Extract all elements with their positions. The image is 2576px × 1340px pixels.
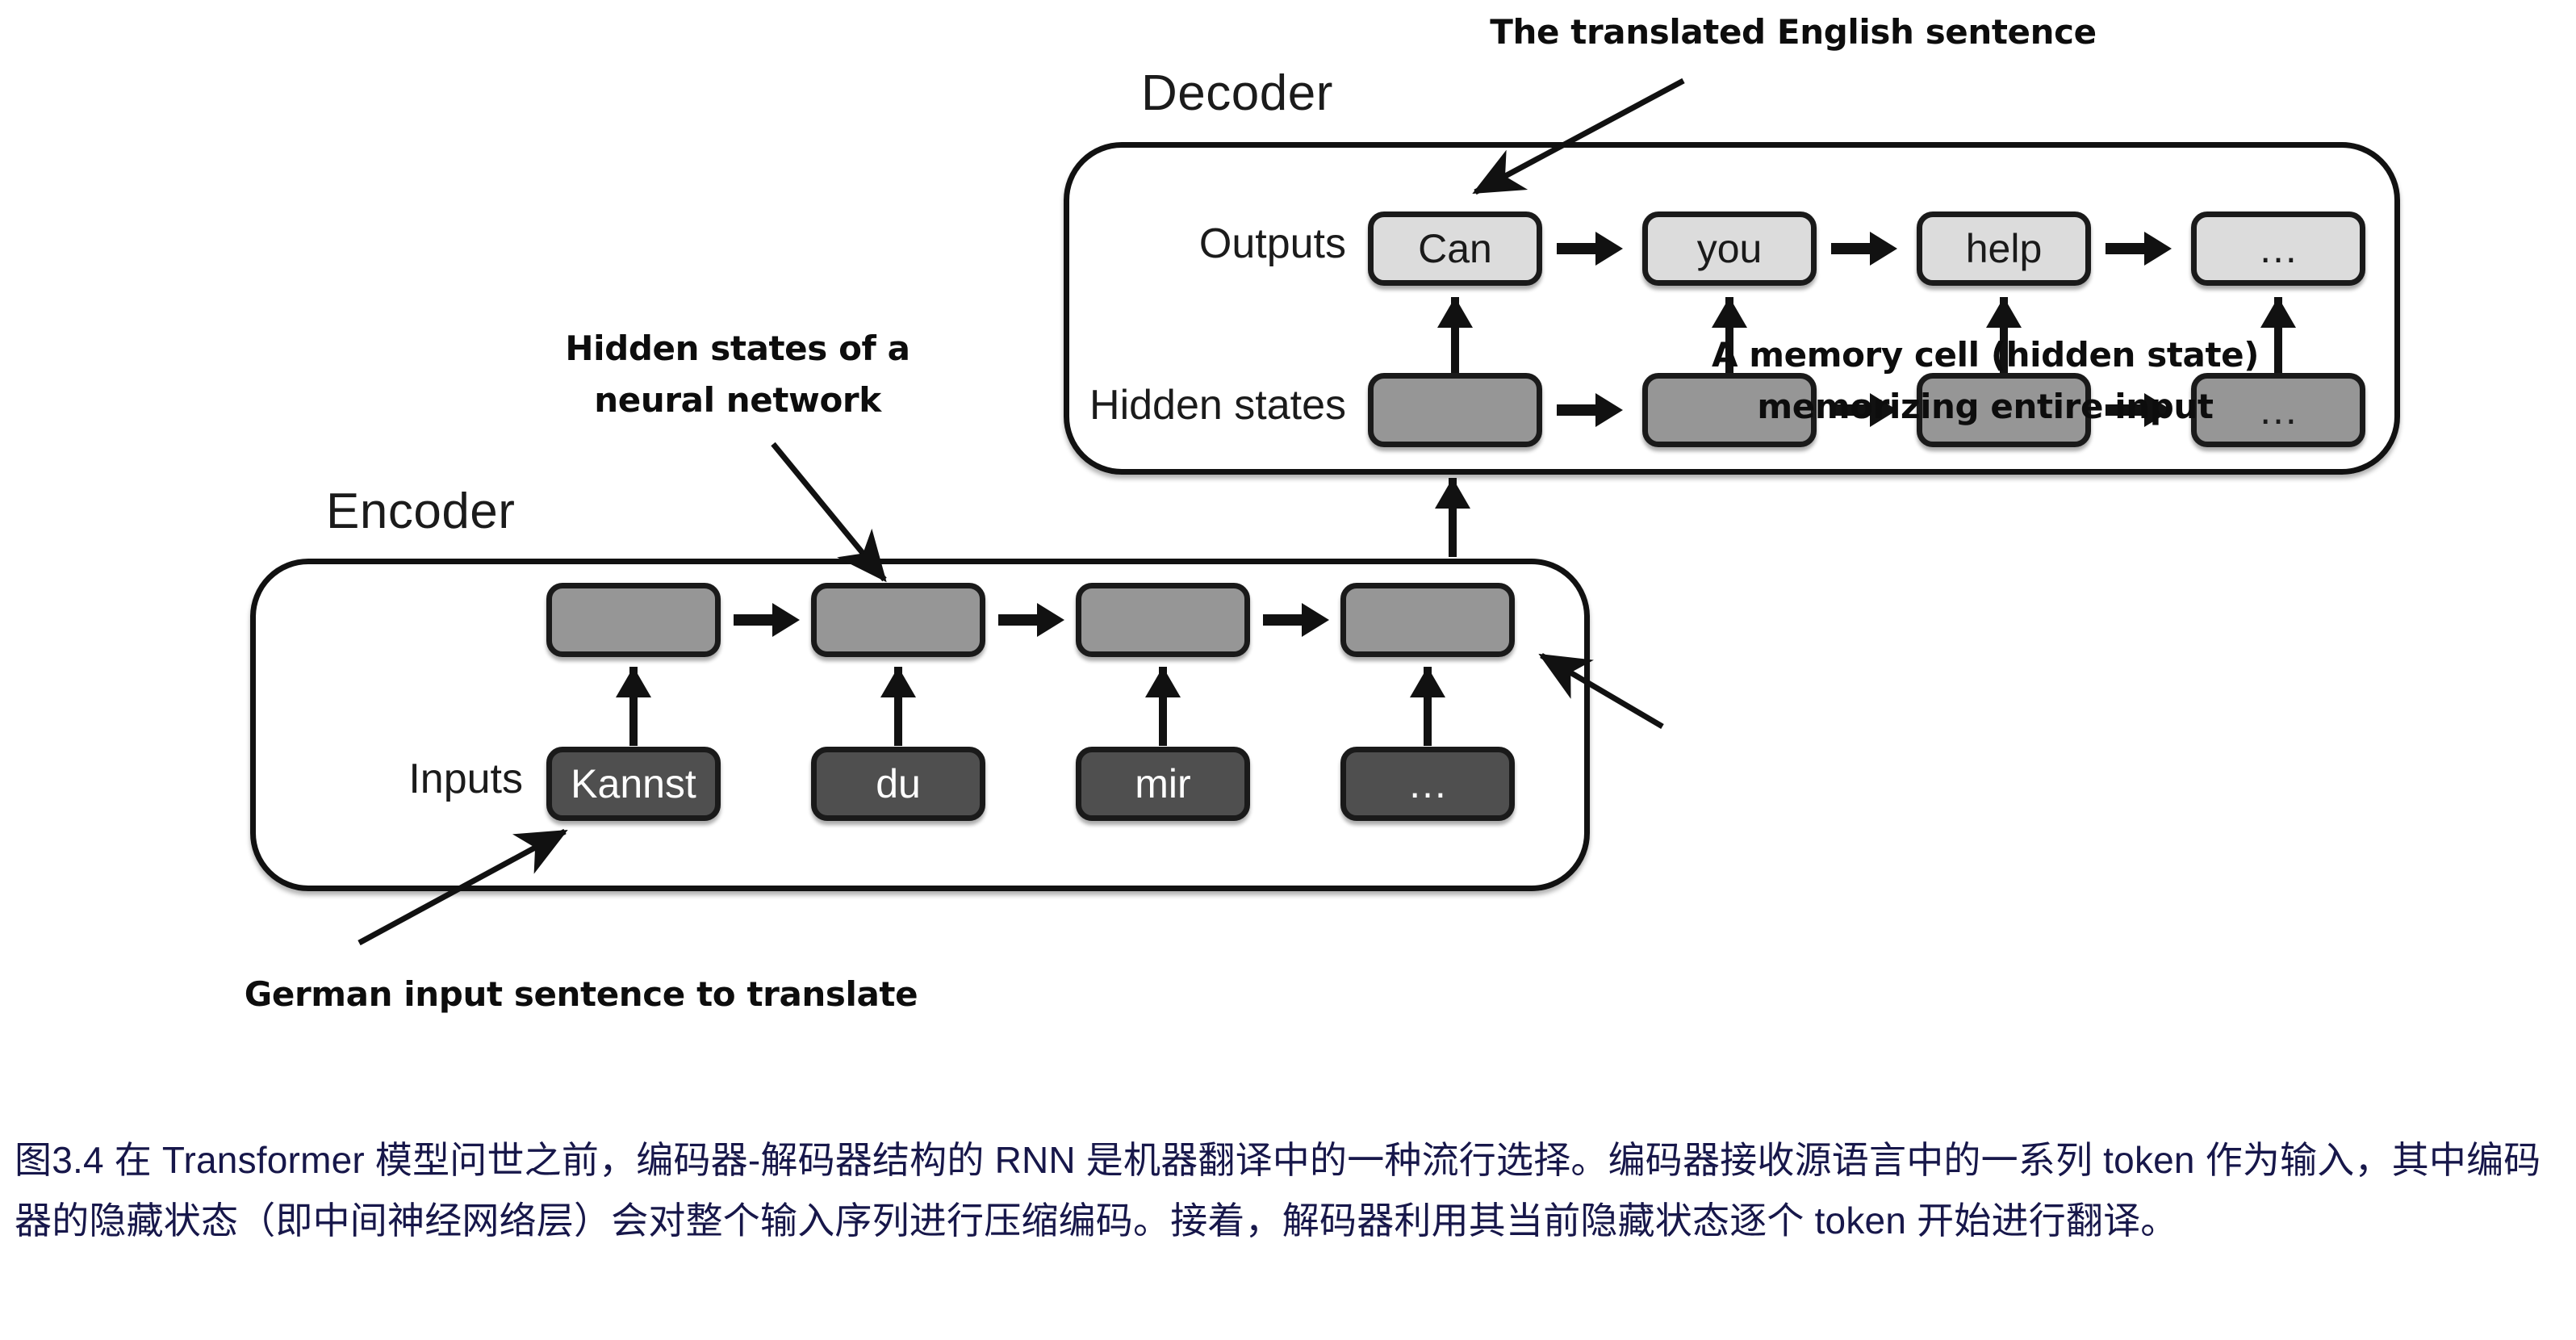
decoder-output-cell-2[interactable]: help	[1917, 211, 2091, 286]
callout-hidden-states: Hidden states of a neural network	[487, 323, 988, 426]
callout-memory-cell: A memory cell (hidden state) memorizing …	[1679, 329, 2292, 433]
decoder-output-cell-3[interactable]: …	[2191, 211, 2365, 286]
decoder-output-cell-0[interactable]: Can	[1368, 211, 1542, 286]
encoder-hidden-cell-0[interactable]	[546, 583, 721, 657]
encoder-hidden-cell-2[interactable]	[1076, 583, 1250, 657]
encoder-input-cell-3[interactable]: …	[1340, 747, 1515, 821]
rnn-encoder-decoder-diagram: Decoder Outputs Hidden states Can you he…	[0, 0, 2576, 1082]
encoder-title: Encoder	[326, 483, 515, 540]
decoder-outputs-label: Outputs	[1128, 220, 1346, 268]
figure-caption: 图3.4 在 Transformer 模型问世之前，编码器-解码器结构的 RNN…	[15, 1130, 2565, 1250]
callout-translated-sentence: The translated English sentence	[1487, 6, 2100, 58]
encoder-hidden-cell-1[interactable]	[811, 583, 985, 657]
encoder-hidden-cell-3[interactable]	[1340, 583, 1515, 657]
decoder-output-cell-1[interactable]: you	[1642, 211, 1817, 286]
decoder-title: Decoder	[1141, 65, 1333, 122]
callout-german-input: German input sentence to translate	[242, 969, 920, 1020]
encoder-inputs-label: Inputs	[321, 755, 523, 803]
encoder-input-cell-1[interactable]: du	[811, 747, 985, 821]
encoder-input-cell-2[interactable]: mir	[1076, 747, 1250, 821]
decoder-hidden-cell-0[interactable]	[1368, 373, 1542, 447]
decoder-hidden-states-label: Hidden states	[1064, 381, 1346, 429]
encoder-input-cell-0[interactable]: Kannst	[546, 747, 721, 821]
